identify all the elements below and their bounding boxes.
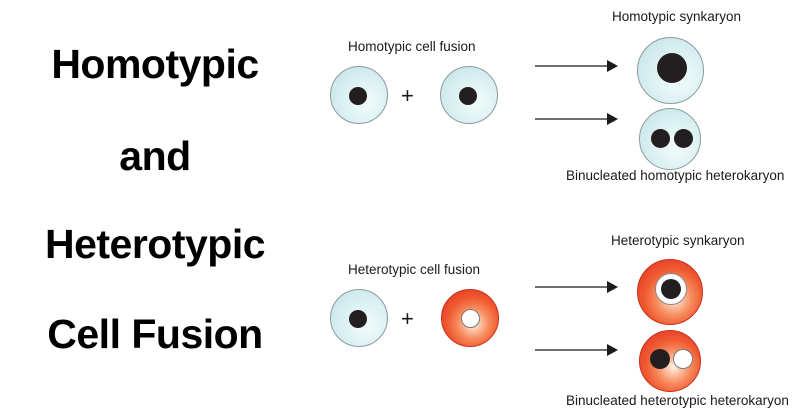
arrow-heterotypic-synkaryon <box>535 281 619 293</box>
heterotypic-binucleated-cell <box>639 330 701 392</box>
homotypic-binucleated-cell <box>639 108 701 170</box>
heterotypic-parent-cell-2 <box>441 289 499 347</box>
heterotypic-synkaryon-label: Heterotypic synkaryon <box>611 234 745 248</box>
title-line-1: Homotypic <box>0 44 310 85</box>
nucleus-dark <box>459 87 477 105</box>
title-line-3: Heterotypic <box>0 224 310 265</box>
nucleus-dark-in-white-ring <box>655 273 687 305</box>
heterotypic-parent-cell-1 <box>330 289 388 347</box>
title-line-2: and <box>0 136 310 177</box>
title-block: Homotypic and Heterotypic Cell Fusion <box>0 0 310 420</box>
homotypic-parent-cell-1 <box>330 66 388 124</box>
nucleus-white-right <box>673 349 693 369</box>
nucleus-dark <box>349 310 367 328</box>
nucleus-white <box>461 309 480 328</box>
heterotypic-fusion-label: Heterotypic cell fusion <box>348 263 480 277</box>
nucleus-dark-right <box>674 129 693 148</box>
arrow-homotypic-synkaryon <box>535 60 619 72</box>
homotypic-parent-cell-2 <box>440 66 498 124</box>
homotypic-synkaryon-label: Homotypic synkaryon <box>612 10 741 24</box>
nucleus-dark-left <box>651 129 670 148</box>
diagram-canvas: Homotypic and Heterotypic Cell Fusion Ho… <box>0 0 800 420</box>
homotypic-fusion-label: Homotypic cell fusion <box>348 40 476 54</box>
heterotypic-synkaryon-cell <box>637 259 703 325</box>
heterotypic-heterokaryon-label: Binucleated heterotypic heterokaryon <box>566 394 789 408</box>
arrow-homotypic-heterokaryon <box>535 113 619 125</box>
title-line-4: Cell Fusion <box>0 314 310 355</box>
homotypic-heterokaryon-label: Binucleated homotypic heterokaryon <box>566 169 784 183</box>
nucleus-large-dark <box>657 53 687 83</box>
heterotypic-plus-symbol: + <box>401 308 414 330</box>
nucleus-dark-left <box>650 349 670 369</box>
homotypic-plus-symbol: + <box>401 85 414 107</box>
homotypic-synkaryon-cell <box>637 37 704 104</box>
arrow-heterotypic-heterokaryon <box>535 344 619 356</box>
nucleus-dark <box>349 87 367 105</box>
